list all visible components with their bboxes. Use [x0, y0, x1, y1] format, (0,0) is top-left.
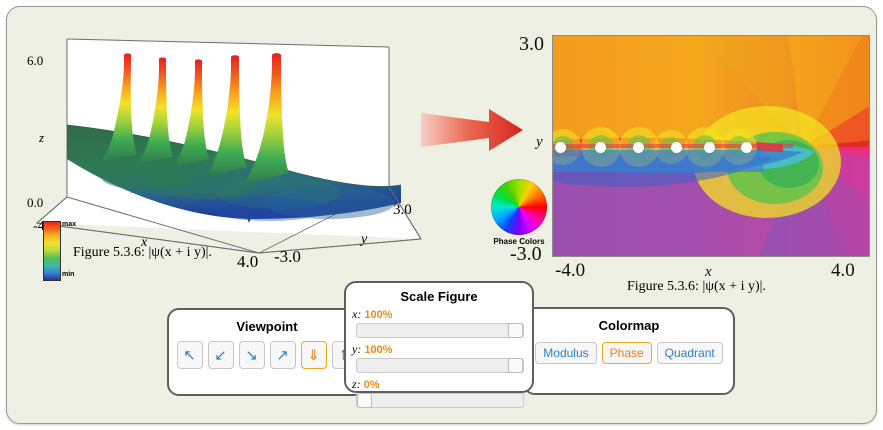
colormap-button-row: Modulus Phase Quadrant	[525, 342, 733, 364]
scale-x-row: x: 100%	[352, 307, 532, 322]
zero-marker	[704, 142, 715, 153]
surface-z-min-label: 0.0	[27, 195, 43, 211]
scale-y-label: y:	[352, 342, 361, 356]
phase-colors-wheel-icon	[491, 179, 547, 235]
zero-marker	[595, 142, 606, 153]
scale-x-slider-knob[interactable]	[508, 323, 523, 338]
scale-x-slider[interactable]	[356, 323, 524, 338]
scale-x-label: x:	[352, 307, 361, 321]
colormap-quadrant-button[interactable]: Quadrant	[657, 342, 723, 364]
surface-z-max-label: 6.0	[27, 53, 43, 69]
phase-x-max-label: 4.0	[831, 260, 855, 282]
colormap-title: Colormap	[525, 318, 733, 333]
phase-plot[interactable]	[552, 35, 870, 257]
surface-y-axis-label: y	[361, 232, 367, 248]
colormap-phase-button[interactable]: Phase	[602, 342, 652, 364]
phase-y-axis-label: y	[536, 134, 543, 151]
viewpoint-panel: Viewpoint ↖ ↙ ↘ ↗ ⇓ ⇑	[167, 308, 367, 396]
transform-arrow-icon	[419, 99, 525, 161]
viewpoint-rotate-down-right-button[interactable]: ↘	[239, 341, 265, 369]
phase-plot-image	[552, 35, 870, 257]
colormap-modulus-button[interactable]: Modulus	[535, 342, 596, 364]
screenshot-root: 6.0 0.0 z -4.0 4.0 x -3.0 3.0 y max min …	[0, 0, 883, 430]
phase-y-top-label: 3.0	[519, 33, 544, 56]
figure-panel: 6.0 0.0 z -4.0 4.0 x -3.0 3.0 y max min …	[6, 6, 877, 424]
scale-z-row: z: 0%	[352, 377, 532, 392]
surface-x-max-label: 4.0	[237, 252, 258, 272]
scale-figure-title: Scale Figure	[346, 289, 532, 304]
surface-plot-caption: Figure 5.3.6: |ψ(x + i y)|.	[73, 245, 212, 261]
viewpoint-rotate-up-right-button[interactable]: ↗	[270, 341, 296, 369]
scale-x-value: 100%	[364, 309, 392, 321]
viewpoint-tilt-down-button[interactable]: ⇓	[301, 341, 327, 369]
scale-y-row: y: 100%	[352, 342, 532, 357]
zero-marker	[555, 142, 566, 153]
colorbar-min-label: min	[62, 271, 74, 278]
phase-x-min-label: -4.0	[555, 260, 585, 282]
viewpoint-rotate-down-left-button[interactable]: ↙	[208, 341, 234, 369]
scale-y-value: 100%	[364, 344, 392, 356]
surface-z-axis-label: z	[39, 130, 44, 146]
scale-z-slider[interactable]	[356, 393, 524, 408]
scale-y-slider-knob[interactable]	[508, 358, 523, 373]
viewpoint-rotate-up-left-button[interactable]: ↖	[177, 341, 203, 369]
zero-marker	[671, 142, 682, 153]
modulus-colorbar	[43, 221, 61, 281]
surface-y-min-label: -3.0	[274, 247, 301, 267]
scale-z-label: z:	[352, 377, 361, 391]
zero-marker	[741, 142, 752, 153]
viewpoint-button-row: ↖ ↙ ↘ ↗ ⇓ ⇑	[169, 341, 365, 369]
scale-figure-panel: Scale Figure x: 100% y: 100% z: 0%	[344, 281, 534, 393]
colormap-panel: Colormap Modulus Phase Quadrant	[523, 307, 735, 395]
scale-y-slider[interactable]	[356, 358, 524, 373]
phase-plot-caption: Figure 5.3.6: |ψ(x + i y)|.	[627, 279, 766, 295]
scale-z-value: 0%	[364, 379, 380, 391]
phase-colors-label: Phase Colors	[477, 237, 561, 246]
zero-marker	[633, 142, 644, 153]
scale-z-slider-knob[interactable]	[357, 393, 372, 408]
surface-y-max-label: 3.0	[393, 202, 412, 219]
phase-y-bottom-label: -3.0	[510, 243, 542, 266]
colorbar-max-label: max	[62, 221, 76, 228]
viewpoint-title: Viewpoint	[169, 319, 365, 334]
